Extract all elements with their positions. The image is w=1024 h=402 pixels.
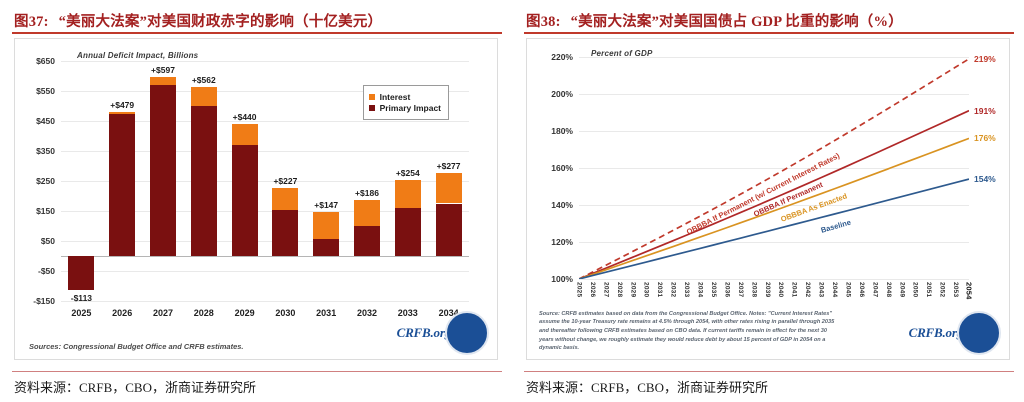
x-axis-tick: 2027	[602, 282, 609, 297]
bar-segment-interest[interactable]	[395, 180, 421, 208]
bar-segment-interest[interactable]	[436, 173, 462, 204]
bar-value-label: +$227	[273, 176, 297, 186]
y-axis-tick: $50	[41, 236, 55, 246]
x-axis-tick: 2053	[952, 282, 959, 297]
line-series-path[interactable]	[579, 59, 969, 279]
figure-38-number: 图38:	[526, 14, 561, 30]
grid-line	[579, 279, 969, 280]
bar-segment-primary-impact[interactable]	[68, 256, 94, 290]
bar-segment-interest[interactable]	[191, 87, 217, 106]
debt-chart-notes: Source: CRFB estimates based on data fro…	[539, 310, 839, 353]
x-axis-tick: 2027	[153, 308, 173, 318]
x-axis-tick: 2049	[898, 282, 905, 297]
x-axis-tick: 2034	[697, 282, 704, 297]
x-axis-tick: 2029	[235, 308, 255, 318]
deficit-source-note: Sources: Congressional Budget Office and…	[29, 342, 244, 351]
bar-segment-primary-impact[interactable]	[395, 208, 421, 256]
x-axis-tick: 2046	[858, 282, 865, 297]
x-axis-tick: 2047	[871, 282, 878, 297]
x-axis-tick: 2037	[737, 282, 744, 297]
bar-segment-primary-impact[interactable]	[313, 239, 339, 256]
x-axis-tick: 2050	[912, 282, 919, 297]
legend-item-interest: Interest	[369, 92, 441, 102]
x-axis-tick: 2032	[357, 308, 377, 318]
y-axis-tick: $450	[36, 116, 55, 126]
x-axis-tick: 2040	[777, 282, 784, 297]
crfb-logo-right: CRFB.org	[909, 311, 1001, 355]
bar-segment-primary-impact[interactable]	[232, 145, 258, 256]
figure-38-title: 图38:“美丽大法案”对美国国债占 GDP 比重的影响（%）	[526, 10, 1012, 31]
deficit-chart-legend: Interest Primary Impact	[363, 85, 449, 120]
x-axis-tick: 2030	[275, 308, 295, 318]
capitol-dome-icon-right	[957, 311, 1001, 355]
x-axis-tick: 2025	[576, 282, 583, 297]
figure-38-title-rule	[524, 32, 1014, 34]
x-axis-tick: 2042	[804, 282, 811, 297]
bar-group[interactable]: +$2272030	[265, 61, 306, 301]
legend-label-primary-impact: Primary Impact	[380, 103, 441, 113]
bar-segment-primary-impact[interactable]	[150, 85, 176, 256]
bar-segment-primary-impact[interactable]	[109, 114, 135, 256]
x-axis-tick: 2028	[616, 282, 623, 297]
y-axis-tick: 180%	[551, 126, 573, 136]
x-axis-tick: 2051	[925, 282, 932, 297]
bar-column[interactable]	[232, 61, 258, 301]
x-axis-tick: 2044	[831, 282, 838, 297]
figure-37-title-rule	[12, 32, 502, 34]
x-axis-tick: 2038	[750, 282, 757, 297]
y-axis-tick: 220%	[551, 52, 573, 62]
capitol-dome-icon	[445, 311, 489, 355]
bar-value-label: +$254	[396, 168, 420, 178]
grid-line	[61, 301, 469, 302]
figure-pair-page: 图37:“美丽大法案”对美国财政赤字的影响（十亿美元） Annual Defic…	[0, 0, 1024, 402]
figure-38-title-text: “美丽大法案”对美国国债占 GDP 比重的影响（%）	[571, 14, 903, 30]
bar-value-label: +$479	[110, 100, 134, 110]
figure-38-chart-card: Percent of GDP 100%120%140%160%180%200%2…	[526, 38, 1010, 360]
y-axis-tick: 200%	[551, 89, 573, 99]
bar-segment-primary-impact[interactable]	[354, 226, 380, 256]
y-axis-tick: $250	[36, 176, 55, 186]
x-axis-tick: 2033	[683, 282, 690, 297]
x-axis-tick: 2026	[589, 282, 596, 297]
series-end-value-label: 191%	[974, 106, 996, 116]
bar-value-label: +$277	[437, 161, 461, 171]
figure-37-source-rule	[12, 371, 502, 373]
bar-value-label: +$440	[233, 112, 257, 122]
y-axis-tick: $350	[36, 146, 55, 156]
y-axis-tick: 160%	[551, 163, 573, 173]
y-axis-tick: 100%	[551, 274, 573, 284]
figure-38-source-rule	[524, 371, 1014, 373]
x-axis-tick: 2045	[844, 282, 851, 297]
figure-37-chart-card: Annual Deficit Impact, Billions $650$550…	[14, 38, 498, 360]
x-axis-tick: 2043	[818, 282, 825, 297]
figure-37-title: 图37:“美丽大法案”对美国财政赤字的影响（十亿美元）	[14, 10, 500, 31]
figure-37-number: 图37:	[14, 14, 49, 30]
bar-group[interactable]: +$1472031	[306, 61, 347, 301]
y-axis-tick: -$50	[38, 266, 55, 276]
x-axis-tick: 2039	[764, 282, 771, 297]
y-axis-tick: 140%	[551, 200, 573, 210]
bar-column[interactable]	[150, 61, 176, 301]
bar-segment-interest[interactable]	[272, 188, 298, 211]
bar-column[interactable]	[313, 61, 339, 301]
bar-value-label: +$147	[314, 200, 338, 210]
x-axis-tick: 2026	[112, 308, 132, 318]
figure-38-panel: 图38:“美丽大法案”对美国国债占 GDP 比重的影响（%） Percent o…	[512, 0, 1024, 402]
legend-item-primary-impact: Primary Impact	[369, 103, 441, 113]
y-axis-tick: $550	[36, 86, 55, 96]
x-axis-tick: 2028	[194, 308, 214, 318]
bar-segment-primary-impact[interactable]	[272, 210, 298, 256]
bar-value-label: +$597	[151, 65, 175, 75]
bar-segment-interest[interactable]	[354, 200, 380, 226]
x-axis-tick: 2032	[670, 282, 677, 297]
bar-group[interactable]: -$1132025	[61, 61, 102, 301]
bar-segment-primary-impact[interactable]	[436, 204, 462, 257]
x-axis-tick: 2031	[656, 282, 663, 297]
bar-column[interactable]	[109, 61, 135, 301]
x-axis-tick: 2035	[710, 282, 717, 297]
x-axis-tick: 2052	[939, 282, 946, 297]
bar-value-label: +$186	[355, 188, 379, 198]
y-axis-tick: -$150	[33, 296, 55, 306]
x-axis-tick: 2036	[723, 282, 730, 297]
bar-segment-interest[interactable]	[150, 77, 176, 85]
line-series-group	[579, 57, 969, 279]
y-axis-tick: 120%	[551, 237, 573, 247]
legend-label-interest: Interest	[380, 92, 411, 102]
bar-group[interactable]: +$5972027	[143, 61, 184, 301]
bar-segment-interest[interactable]	[232, 124, 258, 145]
figure-38-footer-source: 资料来源：CRFB，CBO，浙商证券研究所	[526, 377, 768, 396]
bar-value-label: +$562	[192, 75, 216, 85]
x-axis-tick: 2054	[965, 282, 974, 300]
series-end-value-label: 219%	[974, 54, 996, 64]
crfb-logo-left: CRFB.org	[397, 311, 489, 355]
figure-37-panel: 图37:“美丽大法案”对美国财政赤字的影响（十亿美元） Annual Defic…	[0, 0, 512, 402]
bar-group[interactable]: +$4792026	[102, 61, 143, 301]
line-series-path[interactable]	[579, 179, 969, 279]
y-axis-tick: $650	[36, 56, 55, 66]
crfb-logo-text-right: CRFB.org	[909, 325, 963, 341]
primary-impact-swatch-icon	[369, 105, 375, 111]
x-axis-tick: 2025	[71, 308, 91, 318]
x-axis-tick: 2048	[885, 282, 892, 297]
bar-column[interactable]	[191, 61, 217, 301]
bar-segment-interest[interactable]	[109, 112, 135, 114]
bar-segment-interest[interactable]	[313, 212, 339, 239]
x-axis-tick: 2031	[316, 308, 336, 318]
bar-column[interactable]	[68, 61, 94, 301]
bar-segment-primary-impact[interactable]	[191, 106, 217, 256]
crfb-logo-text: CRFB.org	[397, 325, 451, 341]
x-axis-tick: 2041	[791, 282, 798, 297]
figure-37-title-text: “美丽大法案”对美国财政赤字的影响（十亿美元）	[59, 14, 383, 30]
y-axis-tick: $150	[36, 206, 55, 216]
debt-gdp-line-chart: 100%120%140%160%180%200%220%219%191%176%…	[579, 57, 969, 279]
series-end-value-label: 176%	[974, 133, 996, 143]
figure-37-footer-source: 资料来源：CRFB，CBO，浙商证券研究所	[14, 377, 256, 396]
interest-swatch-icon	[369, 94, 375, 100]
bar-group[interactable]: +$4402029	[224, 61, 265, 301]
series-end-value-label: 154%	[974, 174, 996, 184]
bar-group[interactable]: +$5622028	[183, 61, 224, 301]
deficit-axis-note: Annual Deficit Impact, Billions	[77, 51, 198, 60]
x-axis-tick: 2029	[629, 282, 636, 297]
x-axis-tick: 2030	[643, 282, 650, 297]
bar-value-label: -$113	[71, 293, 92, 303]
